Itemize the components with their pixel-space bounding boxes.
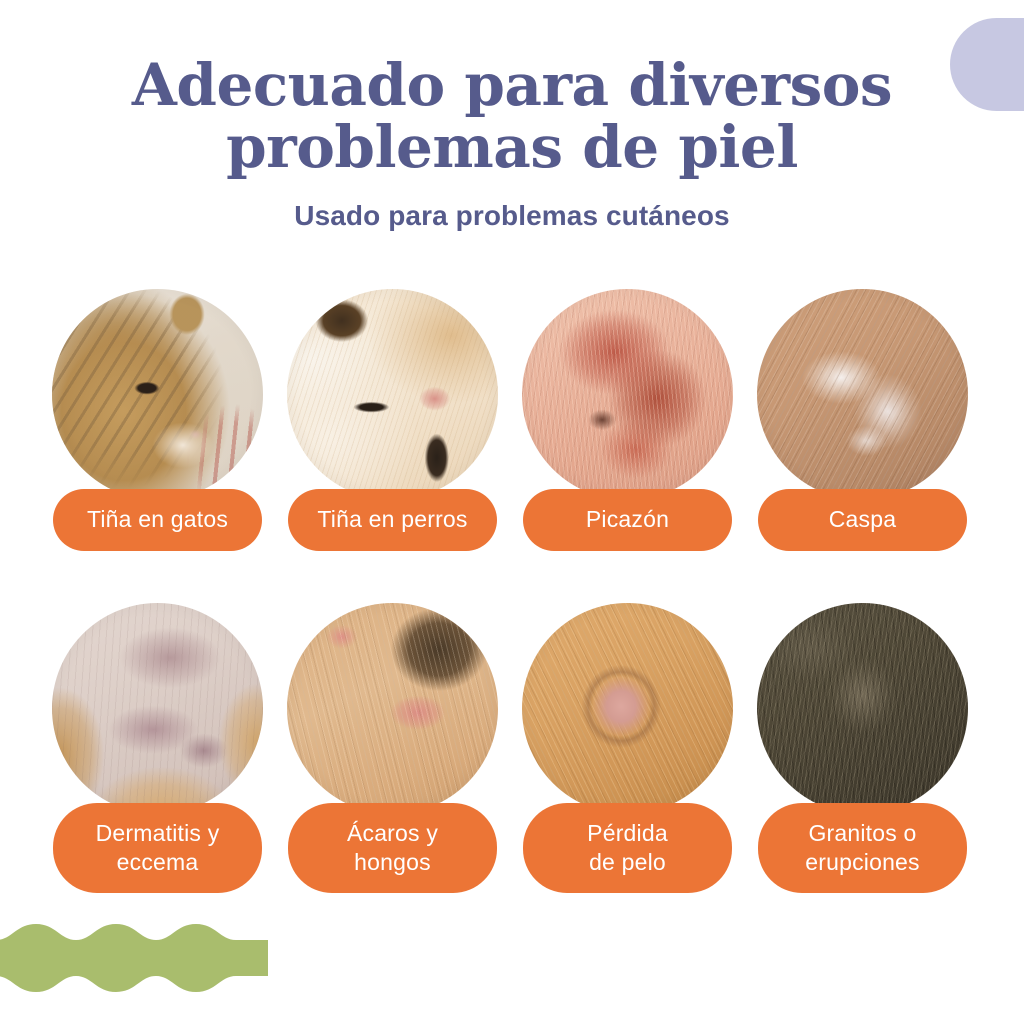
condition-label-pill[interactable]: Tiña en perros: [288, 489, 497, 551]
condition-label-pill[interactable]: Dermatitis y eccema: [53, 803, 262, 893]
photo-tabby-cat-head-profile: [52, 289, 263, 500]
photo-dark-coarse-fur-close-up: [757, 603, 968, 814]
photo-golden-fur-with-bald-patch: [522, 603, 733, 814]
condition-label-pill[interactable]: Picazón: [523, 489, 732, 551]
condition-label-pill[interactable]: Ácaros y hongos: [288, 803, 497, 893]
page-title: Adecuado para diversos problemas de piel: [0, 54, 1024, 178]
condition-card-tina-en-gatos[interactable]: Tiña en gatos: [52, 289, 263, 500]
condition-card-caspa[interactable]: Caspa: [757, 289, 968, 500]
page-subtitle: Usado para problemas cutáneos: [0, 200, 1024, 232]
condition-label-pill[interactable]: Caspa: [758, 489, 967, 551]
condition-card-dermatitis-y-eccema[interactable]: Dermatitis y eccema: [52, 603, 263, 814]
condition-grid: Tiña en gatos Tiña en perros: [52, 289, 976, 814]
header: Adecuado para diversos problemas de piel…: [0, 54, 1024, 232]
photo-tan-fur-dark-patch-pink-irritation: [287, 603, 498, 814]
green-wavy-band-decoration: [0, 918, 276, 998]
photo-pale-belly-skin-with-mauve-patches: [52, 603, 263, 814]
condition-card-perdida-de-pelo[interactable]: Pérdida de pelo: [522, 603, 733, 814]
photo-tan-fur-with-white-dandruff-flakes: [757, 289, 968, 500]
photo-inflamed-red-skin-sparse-fur: [522, 289, 733, 500]
condition-card-tina-en-perros[interactable]: Tiña en perros: [287, 289, 498, 500]
condition-card-picazon[interactable]: Picazón: [522, 289, 733, 500]
photo-cream-dog-head-with-lesion: [287, 289, 498, 500]
condition-card-granitos-o-erupciones[interactable]: Granitos o erupciones: [757, 603, 968, 814]
condition-label-pill[interactable]: Tiña en gatos: [53, 489, 262, 551]
infographic-poster: Adecuado para diversos problemas de piel…: [0, 0, 1024, 1024]
condition-label-pill[interactable]: Pérdida de pelo: [523, 803, 732, 893]
condition-card-acaros-y-hongos[interactable]: Ácaros y hongos: [287, 603, 498, 814]
condition-label-pill[interactable]: Granitos o erupciones: [758, 803, 967, 893]
